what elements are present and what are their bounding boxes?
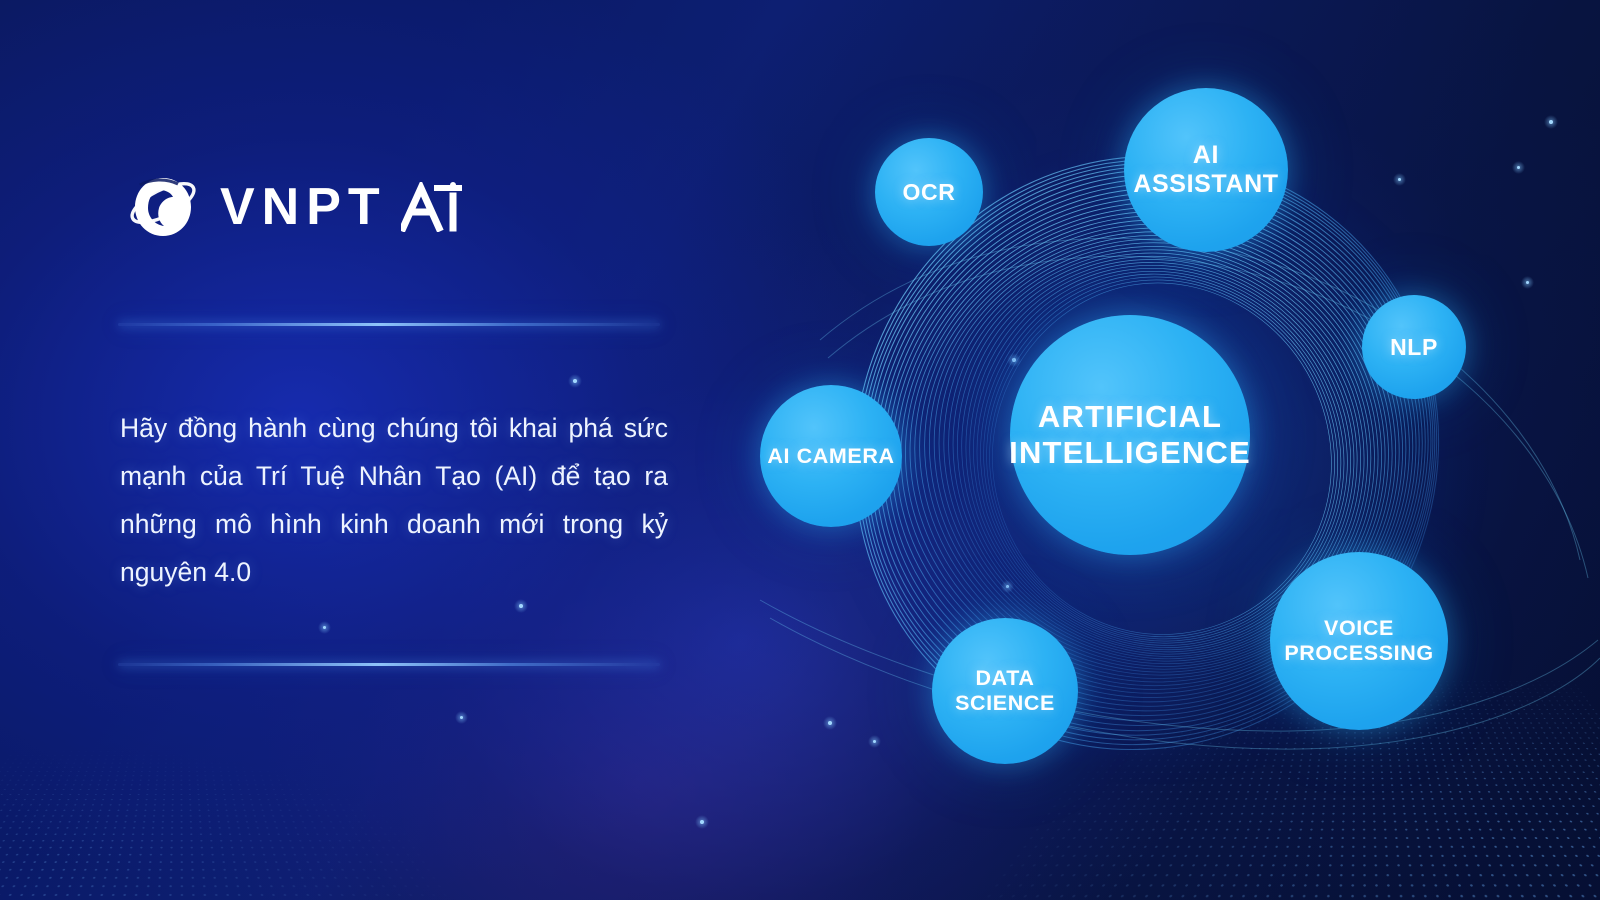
- divider-bottom: [118, 663, 660, 666]
- divider-top: [118, 323, 660, 326]
- logo-text-vnpt: VNPT: [220, 181, 387, 233]
- diagram-node-ai-assistant[interactable]: AI ASSISTANT: [1124, 88, 1288, 252]
- ai-banner: VNPT Hãy đồng hành cùng chúng tôi khai p…: [0, 0, 1600, 900]
- vnpt-ai-logo: VNPT: [126, 172, 465, 242]
- ai-monogram-icon: [401, 182, 465, 232]
- diagram-node-voice-processing[interactable]: VOICE PROCESSING: [1270, 552, 1448, 730]
- diagram-node-label: NLP: [1390, 334, 1438, 361]
- diagram-node-label: OCR: [903, 179, 956, 206]
- diagram-node-label: VOICE PROCESSING: [1270, 616, 1448, 666]
- diagram-node-nlp[interactable]: NLP: [1362, 295, 1466, 399]
- diagram-node-data-science[interactable]: DATA SCIENCE: [932, 618, 1078, 764]
- diagram-node-label: AI ASSISTANT: [1124, 141, 1288, 199]
- diagram-node-artificial-intelligence[interactable]: ARTIFICIAL INTELLIGENCE: [1010, 315, 1250, 555]
- diagram-node-ocr[interactable]: OCR: [875, 138, 983, 246]
- tagline-paragraph: Hãy đồng hành cùng chúng tôi khai phá sứ…: [120, 404, 668, 596]
- logo-text-ai: [401, 182, 465, 232]
- logo-wordmark: VNPT: [220, 181, 465, 233]
- planet-orbit-icon: [126, 172, 200, 242]
- diagram-node-label: DATA SCIENCE: [932, 666, 1078, 716]
- left-content-column: VNPT Hãy đồng hành cùng chúng tôi khai p…: [118, 0, 663, 900]
- diagram-node-label: ARTIFICIAL INTELLIGENCE: [1009, 399, 1251, 471]
- diagram-node-ai-camera[interactable]: AI CAMERA: [760, 385, 902, 527]
- diagram-node-label: AI CAMERA: [767, 444, 894, 469]
- ai-ecosystem-diagram: ARTIFICIAL INTELLIGENCE OCR AI ASSISTANT…: [700, 40, 1600, 870]
